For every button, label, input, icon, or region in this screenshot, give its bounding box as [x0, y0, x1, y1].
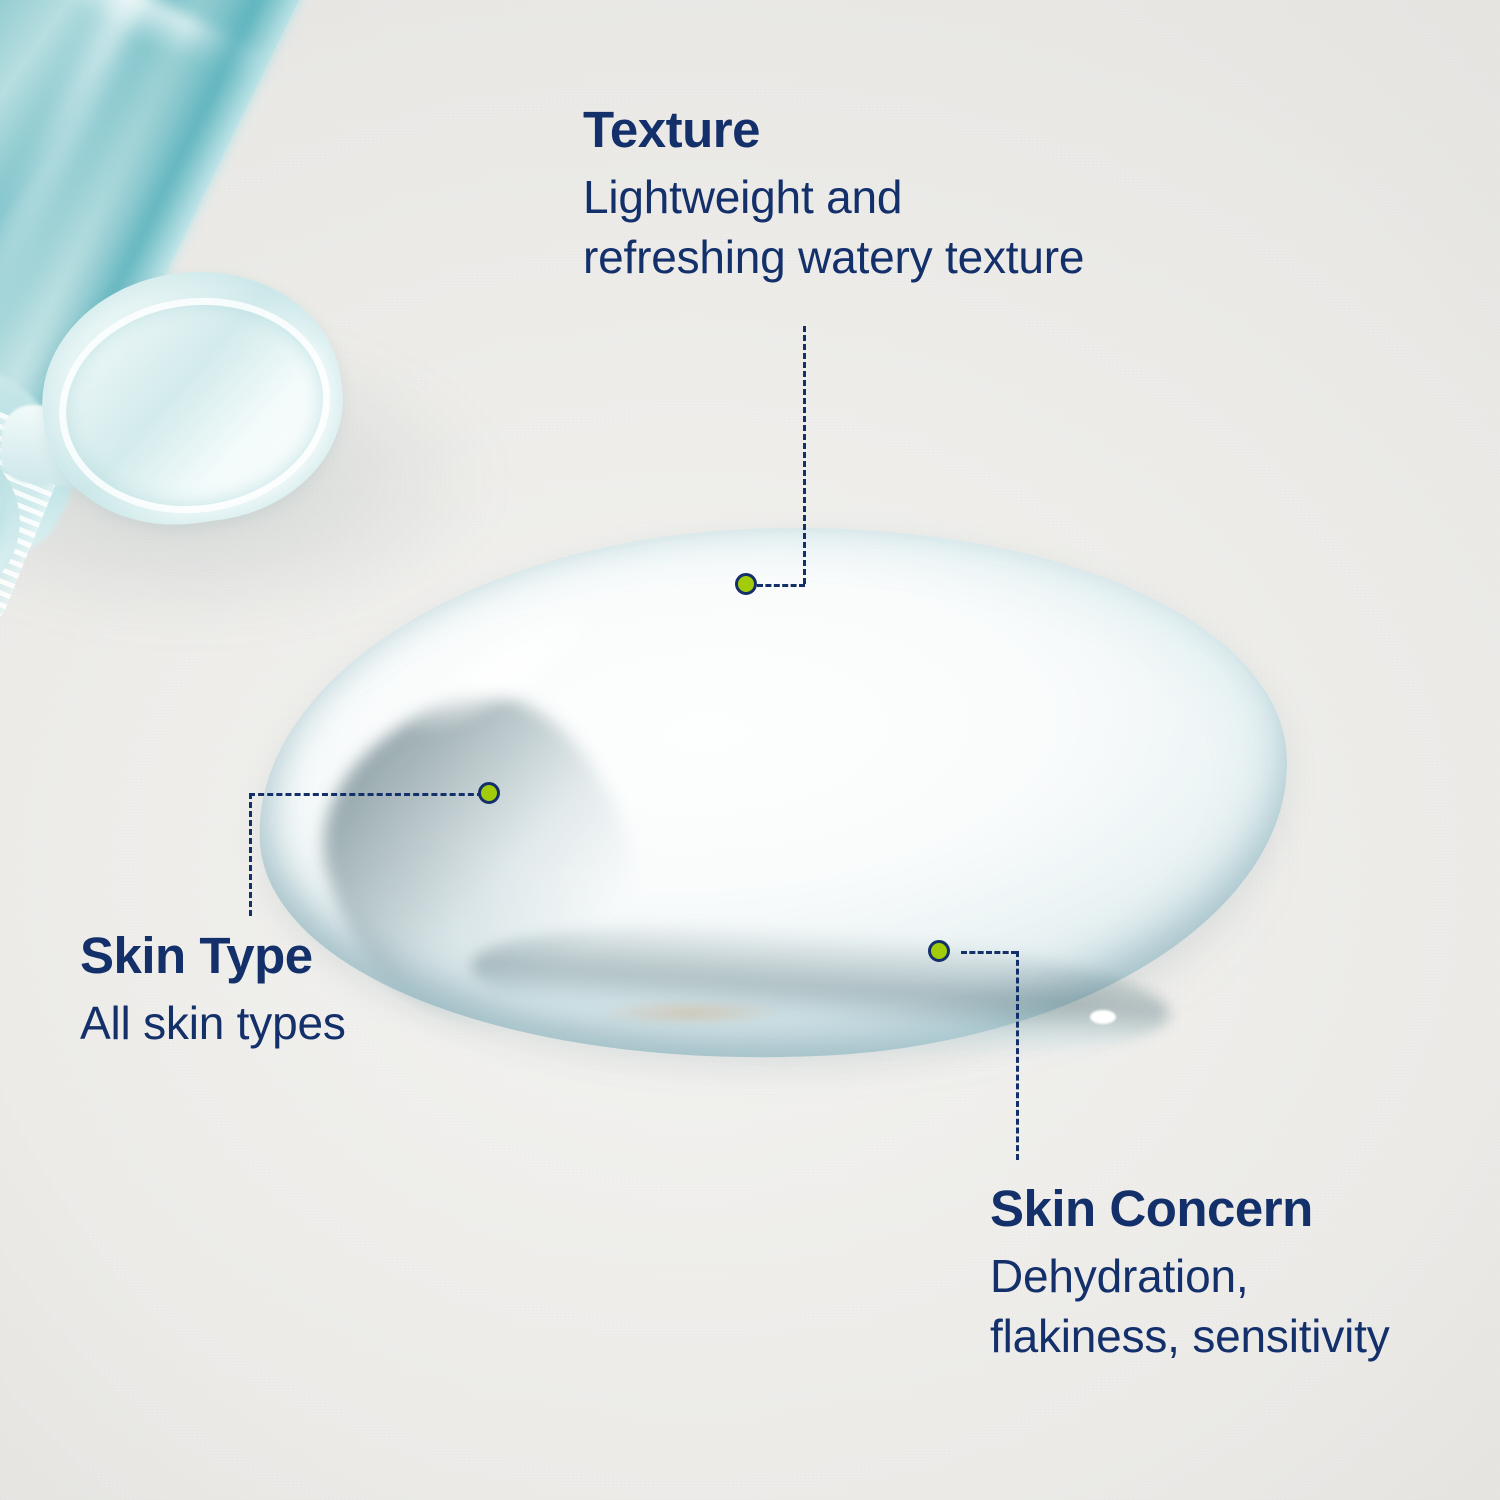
- callout-skin-concern-body-line-2: flakiness, sensitivity: [990, 1307, 1390, 1367]
- callout-skin-type-body: All skin types: [80, 994, 346, 1054]
- connector-texture-dot: [735, 573, 757, 595]
- connector-skin-type-vertical: [249, 793, 252, 916]
- connector-texture-horizontal: [757, 584, 805, 587]
- connector-skin-concern-dot: [928, 940, 950, 962]
- callout-skin-concern-body: Dehydration, flakiness, sensitivity: [990, 1247, 1390, 1367]
- callout-skin-type: Skin Type All skin types: [80, 930, 346, 1054]
- callout-texture: Texture Lightweight and refreshing water…: [583, 104, 1084, 288]
- connector-skin-type-dot: [478, 782, 500, 804]
- callout-skin-concern-body-line-1: Dehydration,: [990, 1247, 1390, 1307]
- infographic-canvas: Torriden DIVE IN Texture Lightweight and…: [0, 0, 1500, 1500]
- callout-texture-body: Lightweight and refreshing watery textur…: [583, 168, 1084, 288]
- callout-texture-body-line-2: refreshing watery texture: [583, 228, 1084, 288]
- connector-skin-type-horizontal: [249, 793, 483, 796]
- connector-skin-concern-vertical: [1016, 951, 1019, 1160]
- callout-texture-body-line-1: Lightweight and: [583, 168, 1084, 228]
- connector-texture-vertical: [803, 326, 806, 584]
- callout-texture-heading: Texture: [583, 104, 1084, 156]
- callout-skin-concern: Skin Concern Dehydration, flakiness, sen…: [990, 1183, 1390, 1367]
- callout-skin-type-heading: Skin Type: [80, 930, 346, 982]
- callout-skin-concern-heading: Skin Concern: [990, 1183, 1390, 1235]
- connector-skin-concern-horizontal: [961, 951, 1017, 954]
- gel-specular-warm: [600, 1000, 780, 1026]
- callout-skin-type-body-line-1: All skin types: [80, 994, 346, 1054]
- gel-specular-dot: [1090, 1010, 1116, 1024]
